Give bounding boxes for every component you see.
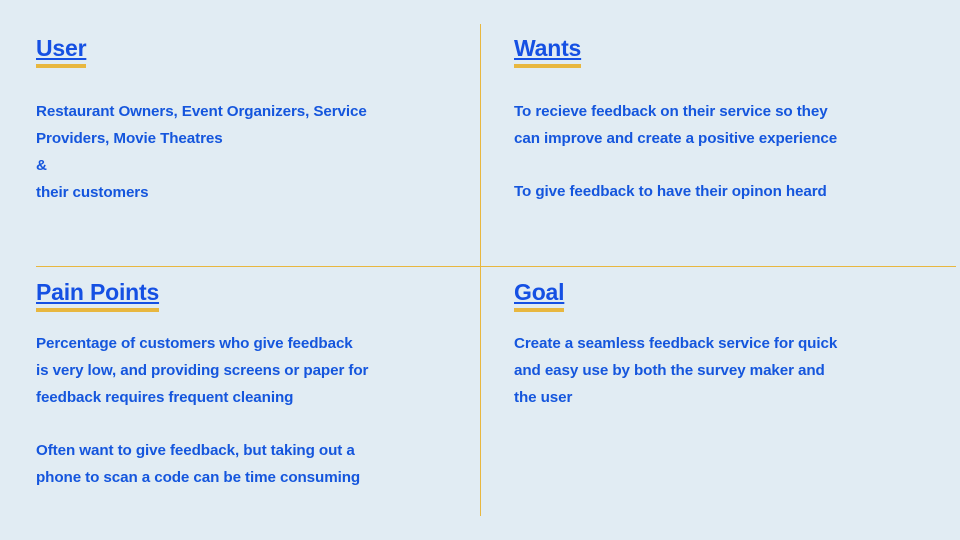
quadrant-wants-heading: Wants [514,36,581,68]
text-line: Often want to give feedback, but taking … [36,437,456,464]
paragraph: To recieve feedback on their service so … [514,98,936,152]
quadrant-pain-points-body: Percentage of customers who give feedbac… [36,330,456,491]
quadrant-user-heading: User [36,36,86,68]
text-line: phone to scan a code can be time consumi… [36,464,456,491]
text-line: To give feedback to have their opinon he… [514,178,936,205]
text-line: Restaurant Owners, Event Organizers, Ser… [36,98,456,125]
paragraph: Often want to give feedback, but taking … [36,437,456,491]
text-line: Percentage of customers who give feedbac… [36,330,456,357]
paragraph: Create a seamless feedback service for q… [514,330,936,411]
paragraph: Percentage of customers who give feedbac… [36,330,456,411]
text-line: and easy use by both the survey maker an… [514,357,936,384]
quadrant-pain-points-heading: Pain Points [36,280,159,312]
text-line: Create a seamless feedback service for q… [514,330,936,357]
text-line: can improve and create a positive experi… [514,125,936,152]
text-line: feedback requires frequent cleaning [36,384,456,411]
quadrant-goal-body: Create a seamless feedback service for q… [514,330,936,411]
quadrant-pain-points: Pain Points Percentage of customers who … [0,266,480,540]
quadrant-wants-body: To recieve feedback on their service so … [514,98,936,205]
empathy-map-board: User Restaurant Owners, Event Organizers… [0,0,960,540]
quadrant-goal: Goal Create a seamless feedback service … [480,266,960,540]
text-line: is very low, and providing screens or pa… [36,357,456,384]
quadrant-user: User Restaurant Owners, Event Organizers… [0,0,480,266]
text-line: To recieve feedback on their service so … [514,98,936,125]
paragraph: Restaurant Owners, Event Organizers, Ser… [36,98,456,206]
text-line: & [36,152,456,179]
quadrant-wants: Wants To recieve feedback on their servi… [480,0,960,266]
quadrant-user-body: Restaurant Owners, Event Organizers, Ser… [36,98,456,206]
text-line: Providers, Movie Theatres [36,125,456,152]
text-line: the user [514,384,936,411]
text-line: their customers [36,179,456,206]
paragraph: To give feedback to have their opinon he… [514,178,936,205]
quadrant-goal-heading: Goal [514,280,564,312]
